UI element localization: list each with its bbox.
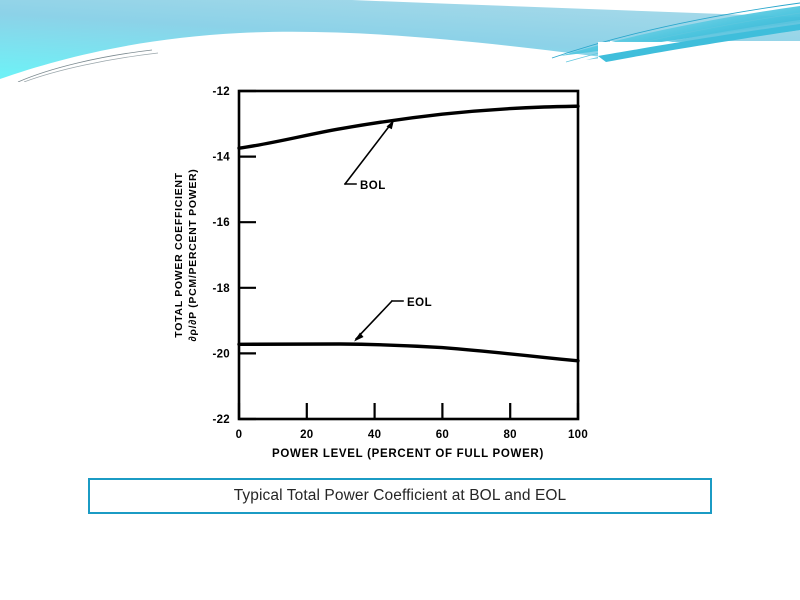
y-ticklabel-0: -12 — [212, 86, 230, 98]
x-axis-tick-labels: 0 20 40 60 80 100 — [236, 429, 588, 441]
x-axis-ticks — [239, 403, 578, 419]
header-gradient-band — [0, 0, 800, 82]
header-ribbon-secondary — [586, 20, 800, 60]
annotation-bol-leader — [345, 120, 394, 184]
y-ticklabel-1: -14 — [212, 152, 230, 164]
y-axis-title-line2: ∂ρ/∂P (PCM/PERCENT POWER) — [187, 168, 199, 341]
y-axis-title-line1: TOTAL POWER COEFFICIENT — [173, 172, 185, 337]
x-axis-title: POWER LEVEL (PERCENT OF FULL POWER) — [272, 448, 544, 460]
header-hairline-left-2 — [24, 53, 158, 82]
x-ticklabel-0: 0 — [236, 429, 243, 441]
header-ribbon-hairline-2 — [566, 13, 800, 62]
x-ticklabel-3: 60 — [436, 429, 449, 441]
annotation-eol-leader — [356, 301, 403, 339]
annotation-eol-arrowhead — [354, 333, 364, 342]
power-coefficient-chart: -12 -14 -16 -18 -20 -22 0 20 40 — [160, 72, 600, 467]
y-ticklabel-5: -22 — [212, 414, 230, 426]
series-curve-eol — [239, 344, 578, 361]
caption-box: Typical Total Power Coefficient at BOL a… — [88, 478, 712, 514]
annotation-bol: BOL — [345, 120, 394, 192]
header-ribbon-hairline — [552, 3, 800, 58]
x-ticklabel-5: 100 — [568, 429, 588, 441]
figure-chart: -12 -14 -16 -18 -20 -22 0 20 40 — [160, 72, 600, 467]
slide-canvas: -12 -14 -16 -18 -20 -22 0 20 40 — [0, 0, 800, 600]
annotation-bol-label: BOL — [360, 180, 386, 192]
header-notch-ribbon-tail — [598, 24, 800, 62]
y-axis-ticks — [239, 91, 256, 419]
y-ticklabel-4: -20 — [212, 348, 230, 360]
x-ticklabel-1: 20 — [300, 429, 313, 441]
x-ticklabel-2: 40 — [368, 429, 381, 441]
x-ticklabel-4: 80 — [503, 429, 516, 441]
header-upper-white-wedge — [352, 0, 800, 17]
y-axis-tick-labels: -12 -14 -16 -18 -20 -22 — [212, 86, 230, 426]
series-curve-bol — [239, 106, 578, 148]
annotation-eol: EOL — [354, 297, 432, 342]
annotation-eol-label: EOL — [407, 297, 432, 309]
header-ribbon-primary — [560, 6, 800, 56]
y-ticklabel-2: -16 — [212, 217, 230, 229]
header-hairline-left-1 — [18, 50, 152, 82]
y-ticklabel-3: -18 — [212, 283, 230, 295]
header-decoration — [0, 0, 800, 82]
caption-text: Typical Total Power Coefficient at BOL a… — [234, 487, 567, 505]
header-notch-block — [598, 42, 800, 82]
